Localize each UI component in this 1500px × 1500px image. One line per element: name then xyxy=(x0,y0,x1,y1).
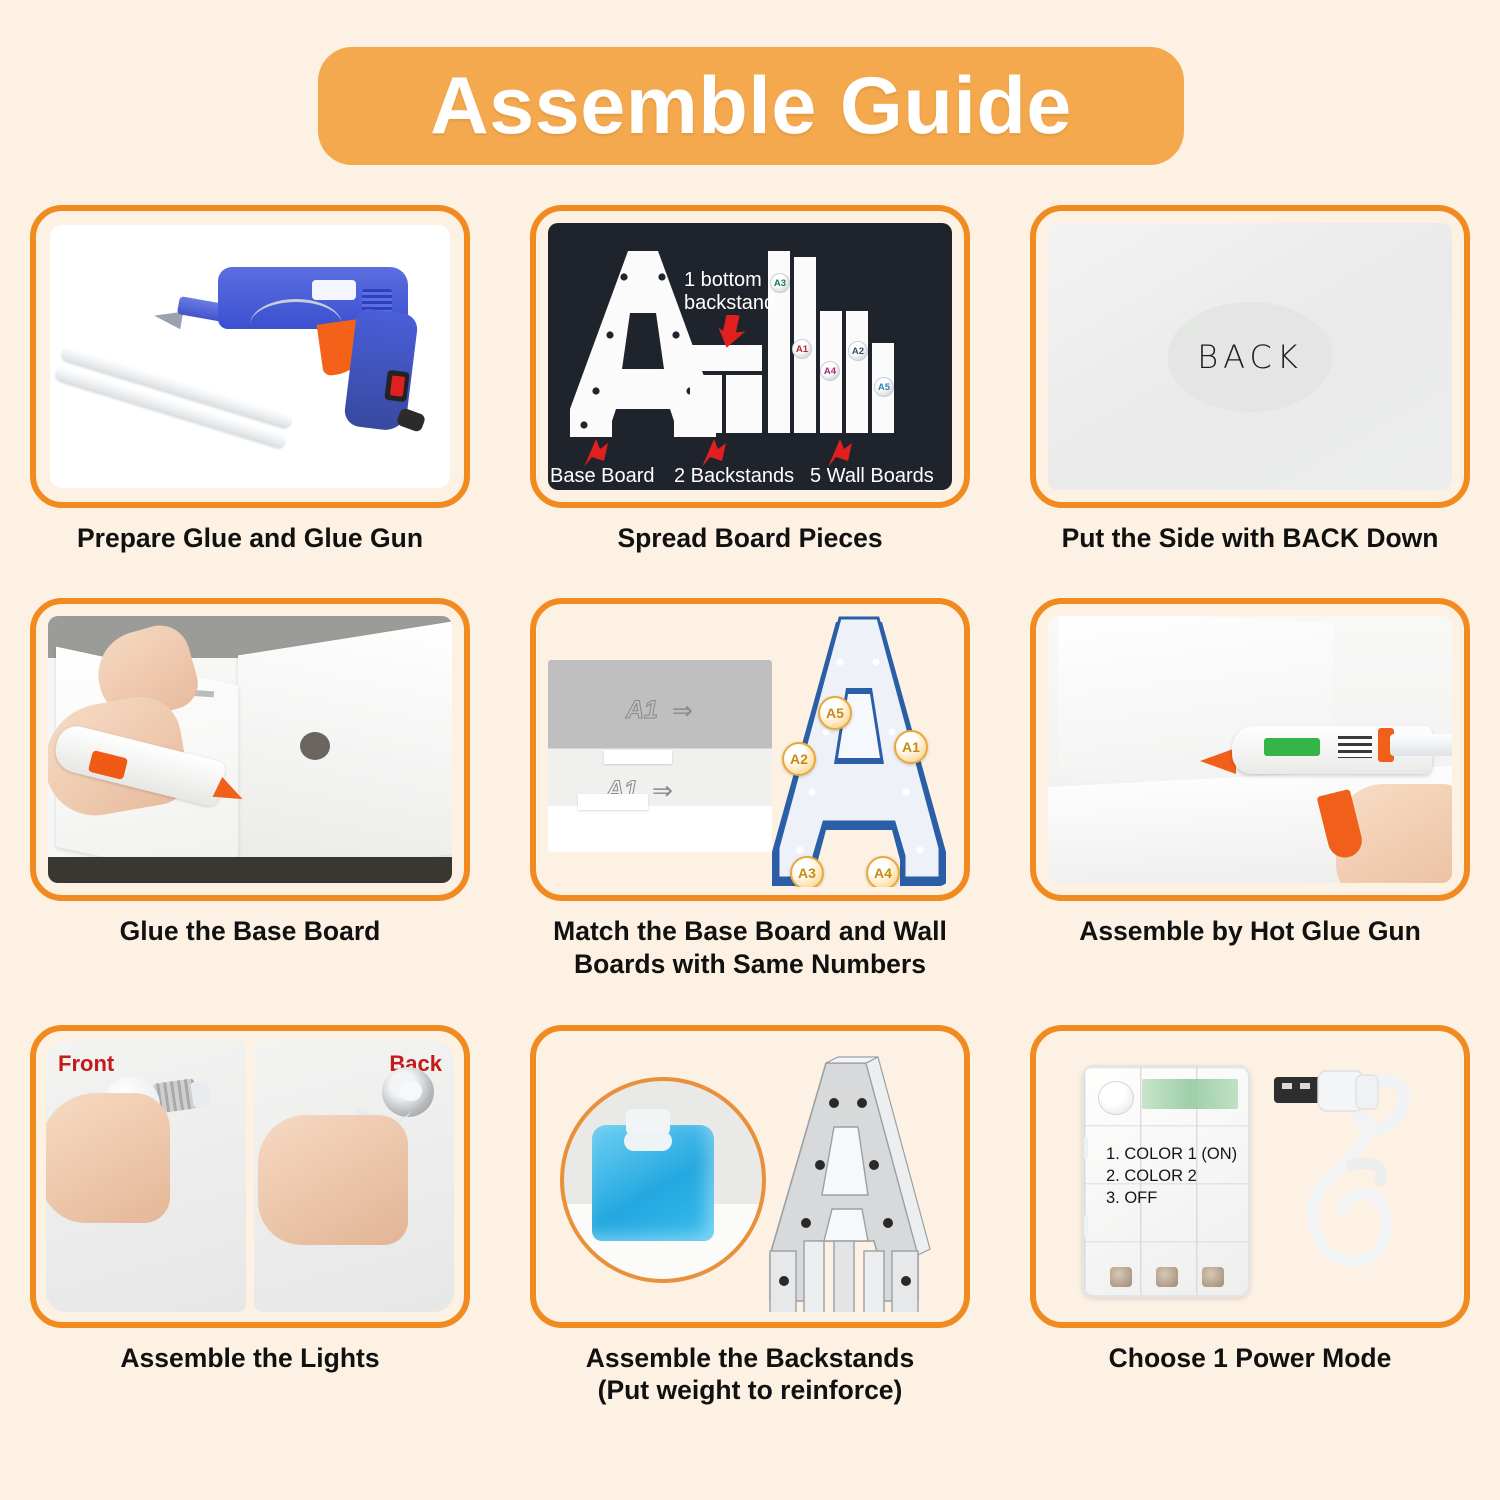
badge-a1-label: A1 xyxy=(902,739,920,755)
step-7-image: Front Back xyxy=(30,1025,470,1328)
badge-a5-label: A5 xyxy=(878,382,890,393)
callout-line-1: 1 bottom xyxy=(684,269,775,292)
step-6-caption: Assemble by Hot Glue Gun xyxy=(1000,915,1500,947)
embossed-arrow-icon-top: ⇒ xyxy=(672,696,693,726)
step-4-image xyxy=(30,598,470,901)
badge-a1-label: A1 xyxy=(796,344,808,355)
step-card-4: Glue the Base Board xyxy=(0,598,500,980)
water-bag-handle xyxy=(624,1131,672,1151)
badge-a2-label: A2 xyxy=(790,751,808,767)
bulb-socket-core xyxy=(400,1081,422,1101)
backstand-piece xyxy=(726,375,762,433)
hot-glue-gun-label xyxy=(1264,738,1320,756)
bulb-contact-tip xyxy=(190,1080,211,1108)
step-3-caption: Put the Side with BACK Down xyxy=(1000,522,1500,554)
step-3-image: BACK xyxy=(1030,205,1470,508)
step-2-image: A3 A1 A2 A4 A5 1 bottom backstand xyxy=(530,205,970,508)
board-tab xyxy=(578,794,648,810)
battery-box-icon: 1. COLOR 1 (ON) 2. COLOR 2 3. OFF xyxy=(1082,1065,1250,1297)
badge-a2-label: A2 xyxy=(852,346,864,357)
badge-a4: A4 xyxy=(866,856,900,887)
battery-box-pcb xyxy=(1142,1079,1238,1109)
glue-gun-cord-cap xyxy=(396,407,427,433)
wall-board-a2 xyxy=(846,311,868,433)
page-title-banner: Assemble Guide xyxy=(318,47,1184,165)
board-right xyxy=(238,621,452,883)
steps-row-2: Glue the Base Board A1 ⇒ A1 ⇒ xyxy=(0,598,1500,980)
step-2-caption: Spread Board Pieces xyxy=(500,522,1000,554)
hot-glue-gun-tip-icon xyxy=(1200,748,1236,774)
label-base-board: Base Board xyxy=(550,465,655,488)
table-surface xyxy=(48,857,452,883)
step-card-8: Assemble the Backstands (Put weight to r… xyxy=(500,1025,1000,1407)
step-7-caption: Assemble the Lights xyxy=(0,1342,500,1374)
back-stamp-text: BACK xyxy=(1197,338,1303,376)
step-card-5: A1 ⇒ A1 ⇒ xyxy=(500,598,1000,980)
power-mode-photo: 1. COLOR 1 (ON) 2. COLOR 2 3. OFF xyxy=(1046,1041,1454,1312)
power-mode-list: 1. COLOR 1 (ON) 2. COLOR 2 3. OFF xyxy=(1106,1143,1237,1209)
battery-cell xyxy=(1110,1267,1132,1287)
back-panel-photo: BACK xyxy=(1048,223,1452,490)
glue-gun-label xyxy=(312,280,356,300)
backstands-photo xyxy=(546,1041,954,1312)
assemble-guide-page: Assemble Guide xyxy=(0,0,1500,1500)
step-5-caption-line-2: Boards with Same Numbers xyxy=(512,948,988,980)
backstand-piece xyxy=(690,375,722,433)
battery-cell xyxy=(1202,1267,1224,1287)
step-8-caption: Assemble the Backstands (Put weight to r… xyxy=(500,1342,1000,1407)
step-5-caption: Match the Base Board and Wall Boards wit… xyxy=(500,915,1000,980)
step-card-6: Assemble by Hot Glue Gun xyxy=(1000,598,1500,980)
badge-a4: A4 xyxy=(820,361,840,381)
step-5-caption-line-1: Match the Base Board and Wall xyxy=(512,915,988,947)
hand-holding-socket xyxy=(258,1115,408,1245)
hot-glue-gun-vent xyxy=(1338,736,1372,758)
badge-a4-label: A4 xyxy=(824,366,836,377)
board-ridge-bottom xyxy=(548,806,772,852)
step-card-7: Front Back xyxy=(0,1025,500,1407)
step-1-caption: Prepare Glue and Glue Gun xyxy=(0,522,500,554)
power-mode-option-2: 2. COLOR 2 xyxy=(1106,1165,1237,1187)
step-card-2: A3 A1 A2 A4 A5 1 bottom backstand xyxy=(500,205,1000,554)
front-label: Front xyxy=(58,1051,114,1077)
badge-a4-label: A4 xyxy=(874,865,892,881)
badge-a3-label: A3 xyxy=(774,278,786,289)
page-title: Assemble Guide xyxy=(430,66,1072,147)
lights-photo-pair: Front Back xyxy=(46,1041,454,1312)
board-ridge-top xyxy=(604,750,672,764)
step-8-caption-line-2: (Put weight to reinforce) xyxy=(512,1374,988,1406)
battery-box-tab xyxy=(1082,1137,1088,1159)
power-mode-button[interactable] xyxy=(1098,1081,1134,1115)
glue-gun-photo xyxy=(50,225,450,488)
hot-glue-gun-photo xyxy=(1048,616,1452,883)
hand-holding-bulb xyxy=(46,1093,170,1223)
step-1-image xyxy=(30,205,470,508)
glue-gun-power-switch xyxy=(384,370,409,402)
badge-a3: A3 xyxy=(790,856,824,887)
match-numbers-photo: A1 ⇒ A1 ⇒ xyxy=(544,612,956,887)
usb-cable-icon xyxy=(1256,1059,1436,1309)
label-2-backstands: 2 Backstands xyxy=(674,465,794,488)
callout-arrow-icon xyxy=(718,315,750,349)
badge-a3-label: A3 xyxy=(798,865,816,881)
badge-a5: A5 xyxy=(874,377,894,397)
step-4-caption: Glue the Base Board xyxy=(0,915,500,947)
badge-a2: A2 xyxy=(848,341,868,361)
steps-grid: Prepare Glue and Glue Gun xyxy=(0,205,1500,1407)
letter-a-3d-with-backstands-icon xyxy=(748,1055,948,1312)
back-stamp-oval: BACK xyxy=(1168,302,1333,412)
embossed-arrow-icon-bottom: ⇒ xyxy=(652,776,673,806)
step-6-image xyxy=(1030,598,1470,901)
embossed-a1-photo: A1 ⇒ A1 ⇒ xyxy=(548,660,772,852)
power-mode-option-3: 3. OFF xyxy=(1106,1187,1237,1209)
lights-back-photo: Back xyxy=(254,1041,454,1312)
badge-a5-label: A5 xyxy=(826,705,844,721)
steps-row-1: Prepare Glue and Glue Gun xyxy=(0,205,1500,554)
hot-glue-stick xyxy=(1390,734,1452,756)
power-mode-option-1: 1. COLOR 1 (ON) xyxy=(1106,1143,1237,1165)
step-card-3: BACK Put the Side with BACK Down xyxy=(1000,205,1500,554)
bottom-backstand-callout: 1 bottom backstand xyxy=(684,269,775,315)
lights-front-photo: Front xyxy=(46,1041,246,1312)
step-card-9: 1. COLOR 1 (ON) 2. COLOR 2 3. OFF xyxy=(1000,1025,1500,1407)
embossed-a1-label-top: A1 xyxy=(626,696,658,725)
steps-row-3: Front Back xyxy=(0,1025,1500,1407)
label-5-wall-boards: 5 Wall Boards xyxy=(810,465,934,488)
weight-bag-inset xyxy=(560,1077,766,1283)
badge-a1: A1 xyxy=(792,339,812,359)
battery-cell xyxy=(1156,1267,1178,1287)
step-9-caption: Choose 1 Power Mode xyxy=(1000,1342,1500,1374)
step-8-image xyxy=(530,1025,970,1328)
step-5-image: A1 ⇒ A1 ⇒ xyxy=(530,598,970,901)
step-card-1: Prepare Glue and Glue Gun xyxy=(0,205,500,554)
board-pieces-diagram: A3 A1 A2 A4 A5 1 bottom backstand xyxy=(548,223,952,490)
battery-box-tab xyxy=(1082,1215,1088,1237)
usb-cable-wrap xyxy=(1256,1059,1436,1309)
callout-line-2: backstand xyxy=(684,292,775,315)
step-9-image: 1. COLOR 1 (ON) 2. COLOR 2 3. OFF xyxy=(1030,1025,1470,1328)
glue-base-board-photo xyxy=(48,616,452,883)
step-8-caption-line-1: Assemble the Backstands xyxy=(512,1342,988,1374)
